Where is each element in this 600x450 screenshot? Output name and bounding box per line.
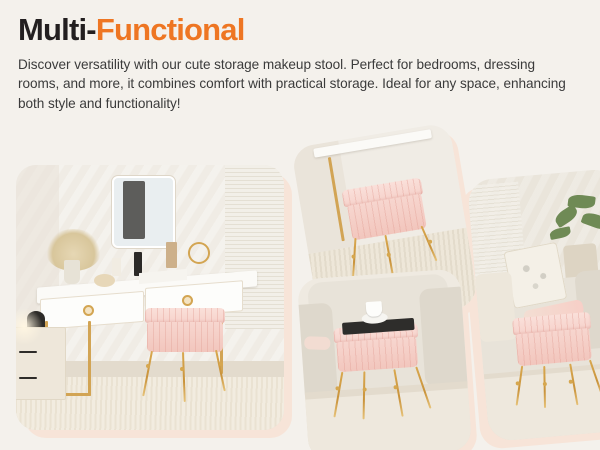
vanity-leg-back-left (88, 321, 91, 395)
diffuser-bottle (166, 242, 177, 269)
storage-stool (342, 177, 432, 256)
scene-living-room (467, 168, 600, 442)
plant-leaf-2 (567, 193, 595, 209)
storage-stool (512, 312, 595, 381)
stool-foot-3 (219, 362, 223, 366)
storage-stool (145, 308, 225, 366)
stool-foot-2 (180, 367, 184, 371)
header: Multi-Functional Discover versatility wi… (18, 14, 584, 114)
sofa-arm-left (297, 303, 338, 397)
nightstand-handle-top (19, 351, 38, 353)
nightstand-handle-bottom (19, 377, 38, 379)
drawer-knob-right (182, 295, 193, 306)
stool-body (516, 328, 592, 367)
stool-leg-2 (543, 366, 546, 408)
stool-body-ribs (147, 322, 223, 352)
headline-part-accent: Functional (96, 12, 245, 47)
stool-foot-2 (543, 382, 547, 386)
stool-lid-ribs (145, 308, 225, 323)
page-title: Multi-Functional (18, 14, 584, 47)
headline-part-primary: Multi- (18, 12, 96, 47)
image-panel-side-table-scene (297, 269, 472, 450)
stool-foot-2 (363, 387, 367, 391)
description-text: Discover versatility with our cute stora… (18, 55, 568, 115)
throw-blanket (475, 272, 517, 343)
stool-body (147, 322, 223, 352)
stool-body-ribs (336, 337, 418, 373)
stool-body (336, 337, 418, 373)
scene-dressing-table (16, 165, 284, 430)
stool-body-ribs (516, 328, 592, 367)
mirror-reflection (123, 181, 144, 239)
pillow-pattern (512, 251, 558, 299)
stool-foot-3 (428, 239, 433, 244)
stool-lid (145, 308, 225, 323)
jewelry-dish (94, 274, 115, 287)
product-feature-banner: Multi-Functional Discover versatility wi… (0, 0, 600, 450)
hand (304, 336, 331, 350)
scene-side-table (297, 269, 472, 450)
perfume-bottle-white (112, 258, 120, 277)
image-panel-dressing-table-scene (16, 165, 284, 430)
stool-foot-3 (393, 385, 397, 389)
image-gallery (0, 146, 600, 450)
flower-vase (64, 260, 80, 284)
image-panel-living-room-scene (467, 168, 600, 442)
